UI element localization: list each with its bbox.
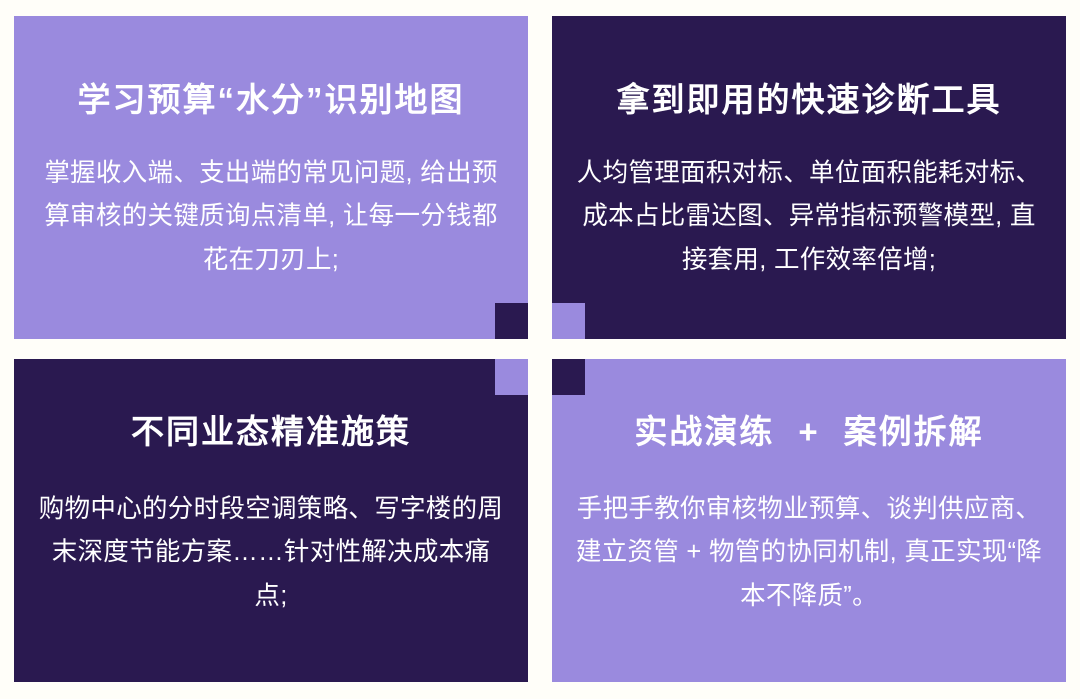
card-title-segment-2: 案例拆解 <box>844 413 984 450</box>
card-title: 实战演练+案例拆解 <box>634 412 983 452</box>
card-title: 不同业态精准施策 <box>131 412 411 452</box>
card-body-text: 购物中心的分时段空调策略、写字楼的周末深度节能方案……针对性解决成本痛点; <box>14 488 528 620</box>
card-body-text: 手把手教你审核物业预算、谈判供应商、建立资管 + 物管的协同机制, 真正实现“降… <box>552 488 1066 620</box>
corner-accent-square-icon <box>495 359 528 395</box>
poster-board: 学习预算“水分”识别地图 掌握收入端、支出端的常见问题, 给出预算审核的关键质询… <box>0 0 1080 699</box>
card-budget-water-map[interactable]: 学习预算“水分”识别地图 掌握收入端、支出端的常见问题, 给出预算审核的关键质询… <box>14 16 528 339</box>
card-title-segment-1: 实战演练 <box>634 413 774 450</box>
card-practice-and-cases[interactable]: 实战演练+案例拆解 手把手教你审核物业预算、谈判供应商、建立资管 + 物管的协同… <box>552 359 1066 682</box>
card-quick-diagnosis-tools[interactable]: 拿到即用的快速诊断工具 人均管理面积对标、单位面积能耗对标、成本占比雷达图、异常… <box>552 16 1066 339</box>
corner-accent-square-icon <box>495 303 528 339</box>
card-format-specific-policy[interactable]: 不同业态精准施策 购物中心的分时段空调策略、写字楼的周末深度节能方案……针对性解… <box>14 359 528 682</box>
card-title: 学习预算“水分”识别地图 <box>78 80 465 120</box>
card-title: 拿到即用的快速诊断工具 <box>617 80 1002 120</box>
card-body-text: 掌握收入端、支出端的常见问题, 给出预算审核的关键质询点清单, 让每一分钱都花在… <box>14 152 528 284</box>
corner-accent-square-icon <box>552 359 585 395</box>
corner-accent-square-icon <box>552 303 585 339</box>
card-body-text: 人均管理面积对标、单位面积能耗对标、成本占比雷达图、异常指标预警模型, 直接套用… <box>552 152 1066 284</box>
card-grid: 学习预算“水分”识别地图 掌握收入端、支出端的常见问题, 给出预算审核的关键质询… <box>14 16 1066 682</box>
plus-sign-icon: + <box>798 413 819 450</box>
